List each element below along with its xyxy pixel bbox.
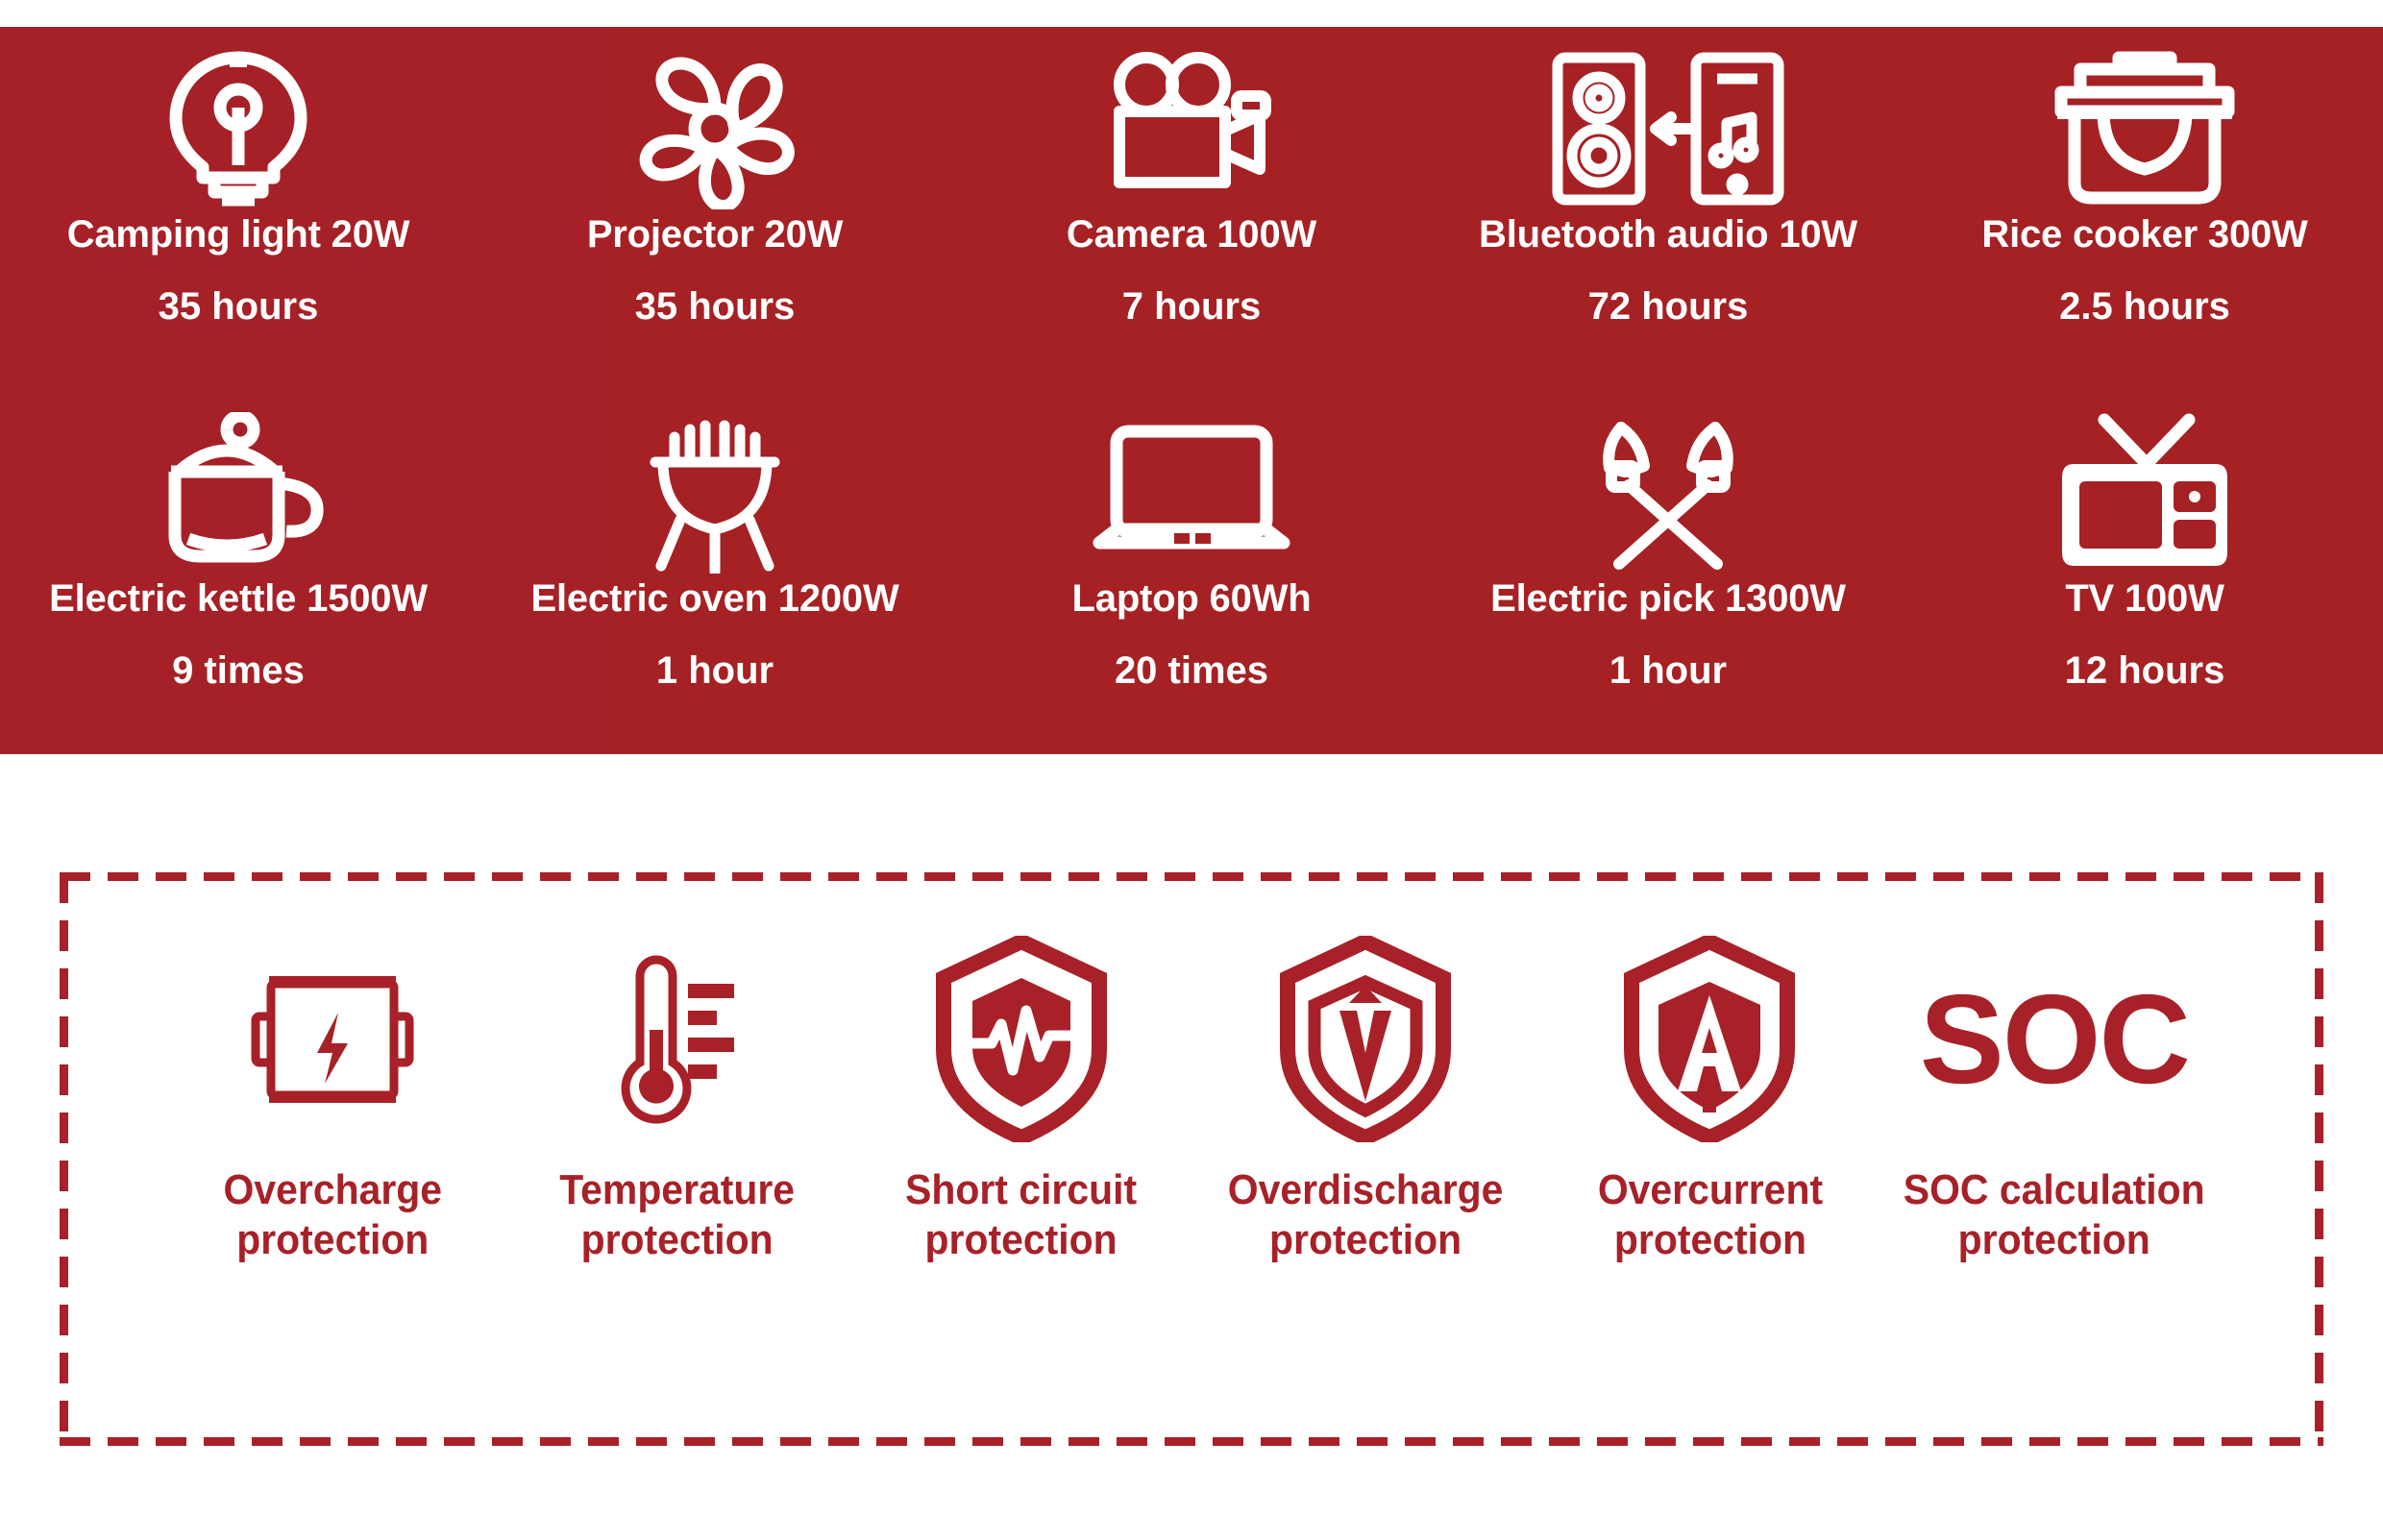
protection-label: Overcurrent protection (1597, 1165, 1822, 1265)
appliance-name: Projector 20W (587, 213, 843, 257)
electric-pick-icon (1565, 412, 1772, 574)
appliance-name: Camping light 20W (67, 213, 410, 257)
dashed-border-right (2315, 872, 2323, 1446)
appliance-cell-tv: TV 100W 12 hours (1906, 391, 2383, 755)
soc-glyph: SOC (1920, 976, 2189, 1103)
electric-kettle-icon (142, 412, 334, 574)
shield-pulse-icon (930, 936, 1113, 1142)
tv-icon (2049, 412, 2241, 574)
dashed-border-left (60, 872, 68, 1446)
appliance-cell-electric-oven: Electric oven 1200W 1 hour (477, 391, 953, 755)
dashed-border-bottom (60, 1437, 2323, 1446)
thermometer-icon (590, 936, 763, 1142)
electric-oven-icon (619, 412, 811, 574)
protection-label-line2: protection (1958, 1216, 2150, 1263)
battery-bolt-icon (236, 936, 429, 1142)
appliance-name: TV 100W (2065, 577, 2223, 621)
laptop-icon (1086, 412, 1297, 574)
protection-label: Overdischarge protection (1228, 1165, 1504, 1265)
protection-cell-overdischarge: Overdischarge protection (1193, 936, 1537, 1387)
projector-fan-icon (619, 48, 811, 209)
appliance-cell-rice-cooker: Rice cooker 300W 2.5 hours (1906, 27, 2383, 391)
protection-label-line1: Overcurrent (1597, 1166, 1822, 1213)
appliance-cell-electric-kettle: Electric kettle 1500W 9 times (0, 391, 477, 755)
appliance-runtime-panel: Camping light 20W 35 hours Projector 20W (0, 27, 2383, 754)
protection-label: SOC calculation protection (1904, 1165, 2205, 1265)
appliance-runtime: 1 hour (1609, 649, 1727, 693)
protection-label-line2: protection (1269, 1216, 1462, 1263)
appliance-runtime: 7 hours (1122, 285, 1261, 329)
appliance-name: Laptop 60Wh (1072, 577, 1312, 621)
appliance-name: Camera 100W (1067, 213, 1316, 257)
appliance-runtime: 35 hours (635, 285, 796, 329)
protection-features-box: Overcharge protection Temperatur (60, 872, 2323, 1446)
appliance-runtime: 72 hours (1588, 285, 1749, 329)
protection-label-line1: Overdischarge (1228, 1166, 1504, 1213)
protection-label-line1: Short circuit (905, 1166, 1137, 1213)
protection-cell-short-circuit: Short circuit protection (849, 936, 1193, 1387)
protection-cell-overcharge: Overcharge protection (160, 936, 504, 1387)
protection-label-line2: protection (236, 1216, 429, 1263)
protection-label-line2: protection (925, 1216, 1118, 1263)
protection-grid: Overcharge protection Temperatur (160, 936, 2226, 1387)
shield-ampere-icon (1618, 936, 1801, 1142)
dashed-border-top (60, 872, 2323, 881)
appliance-name: Electric kettle 1500W (49, 577, 428, 621)
protection-label-line1: SOC calculation (1904, 1166, 2205, 1213)
protection-cell-soc-calculation: SOC SOC calculation protection (1882, 936, 2226, 1387)
appliance-cell-camera: Camera 100W 7 hours (953, 27, 1430, 391)
protection-label: Short circuit protection (905, 1165, 1137, 1265)
appliance-cell-bluetooth-audio: Bluetooth audio 10W 72 hours (1430, 27, 1906, 391)
protection-label-line1: Temperature (559, 1166, 795, 1213)
appliance-runtime: 9 times (172, 649, 305, 693)
protection-label-line1: Overcharge (223, 1166, 441, 1213)
protection-label: Overcharge protection (223, 1165, 441, 1265)
appliance-runtime: 2.5 hours (2059, 285, 2230, 329)
appliance-runtime: 35 hours (159, 285, 319, 329)
appliance-name: Rice cooker 300W (1981, 213, 2307, 257)
rice-cooker-icon (2044, 48, 2246, 209)
protection-label: Temperature protection (559, 1165, 795, 1265)
appliance-runtime: 20 times (1115, 649, 1268, 693)
protection-cell-temperature: Temperature protection (504, 936, 848, 1387)
appliance-cell-electric-pick: Electric pick 1300W 1 hour (1430, 391, 1906, 755)
appliance-runtime: 12 hours (2065, 649, 2225, 693)
camera-icon (1091, 48, 1292, 209)
camping-light-icon (155, 48, 323, 209)
protection-cell-overcurrent: Overcurrent protection (1537, 936, 1881, 1387)
appliance-name: Electric pick 1300W (1490, 577, 1846, 621)
appliance-cell-laptop: Laptop 60Wh 20 times (953, 391, 1430, 755)
soc-text-icon: SOC (1920, 936, 2189, 1142)
appliance-runtime: 1 hour (656, 649, 774, 693)
appliance-cell-camping-light: Camping light 20W 35 hours (0, 27, 477, 391)
protection-label-line2: protection (1613, 1216, 1806, 1263)
appliance-cell-projector: Projector 20W 35 hours (477, 27, 953, 391)
bluetooth-audio-icon (1548, 48, 1788, 209)
appliance-grid: Camping light 20W 35 hours Projector 20W (0, 27, 2383, 754)
appliance-name: Electric oven 1200W (530, 577, 898, 621)
shield-voltage-icon (1274, 936, 1457, 1142)
protection-label-line2: protection (580, 1216, 773, 1263)
appliance-name: Bluetooth audio 10W (1479, 213, 1857, 257)
